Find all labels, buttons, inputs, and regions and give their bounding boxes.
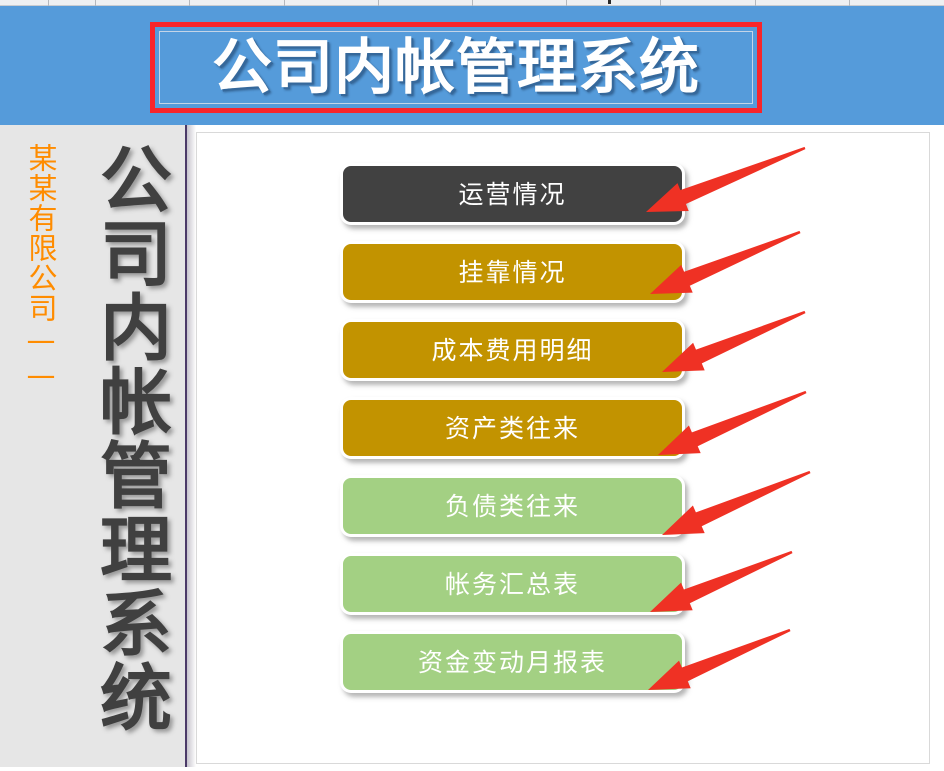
menu-button-label: 成本费用明细: [431, 338, 593, 363]
title-box: 公司内帐管理系统: [150, 22, 762, 113]
sidebar-divider-shadow: [187, 125, 196, 767]
menu-button-label: 资产类往来: [445, 416, 580, 441]
menu-button-6[interactable]: 帐务汇总表: [340, 553, 685, 615]
menu-button-2[interactable]: 挂靠情况: [340, 241, 685, 303]
menu-button-5[interactable]: 负债类往来: [340, 475, 685, 537]
menu-button-label: 挂靠情况: [458, 260, 566, 285]
column-marker: [608, 0, 611, 4]
page-title: 公司内帐管理系统: [212, 38, 700, 98]
company-name-vertical-label: 某某有限公司——: [26, 143, 55, 393]
title-box-inner-border: 公司内帐管理系统: [159, 31, 753, 104]
menu-button-4[interactable]: 资产类往来: [340, 397, 685, 459]
sidebar-vertical-title: 公司内帐管理系统: [92, 142, 165, 734]
menu-button-3[interactable]: 成本费用明细: [340, 319, 685, 381]
menu-button-stack: 运营情况挂靠情况成本费用明细资产类往来负债类往来帐务汇总表资金变动月报表: [340, 163, 685, 709]
menu-button-7[interactable]: 资金变动月报表: [340, 631, 685, 693]
menu-button-label: 帐务汇总表: [445, 572, 580, 597]
menu-button-1[interactable]: 运营情况: [340, 163, 685, 225]
menu-button-label: 资金变动月报表: [418, 650, 607, 675]
menu-button-label: 运营情况: [458, 182, 566, 207]
menu-button-label: 负债类往来: [445, 494, 580, 519]
sidebar-divider: [185, 125, 187, 767]
